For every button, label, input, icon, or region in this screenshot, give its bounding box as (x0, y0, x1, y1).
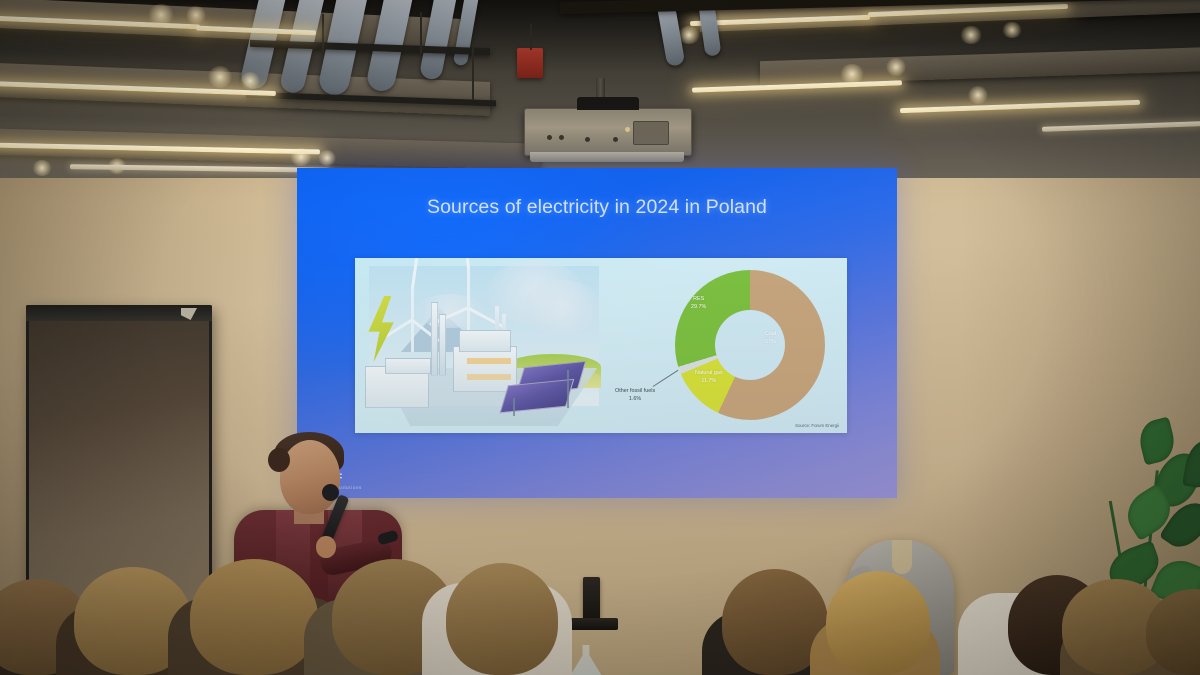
ceiling-light (1042, 121, 1200, 132)
cloud-shape (523, 280, 601, 334)
projector-underside (530, 152, 684, 162)
slice-value-other-fossil-fuels: 1.6% (615, 396, 655, 404)
smokestack (439, 314, 446, 376)
solar-panel-leg (513, 398, 515, 416)
slide-title: Sources of electricity in 2024 in Poland (297, 196, 897, 219)
audience-head (826, 571, 930, 675)
projector-lens (633, 121, 669, 145)
audience-head (446, 563, 558, 675)
ceiling-light-glow (290, 148, 312, 166)
slice-leader-line (653, 370, 679, 387)
slice-value-natural-gas: 11.7% (695, 378, 723, 386)
ceiling-light-glow (840, 64, 864, 84)
ceiling-light (70, 164, 330, 173)
ceiling-light-glow (318, 150, 336, 166)
industrial-plant (467, 374, 511, 380)
ceiling-light-glow (886, 58, 906, 76)
slice-name-res: RES (691, 296, 706, 304)
ceiling-light-glow (240, 72, 260, 90)
industrial-plant (467, 358, 511, 364)
ceiling-light-glow (960, 26, 982, 44)
projector-port (585, 137, 590, 142)
slice-label-coal: Coal 57% (765, 331, 776, 347)
ceiling-light-glow (148, 4, 174, 26)
slice-name-coal: Coal (765, 331, 776, 339)
armchair-back-notch (892, 540, 912, 574)
ceiling-light-glow (1002, 22, 1022, 38)
projector-port (547, 135, 552, 140)
presenter-head (280, 440, 340, 514)
chart-source-note: Source: Forum Energii (795, 423, 839, 428)
donut-ring (675, 270, 825, 420)
projector-bracket (577, 97, 639, 110)
projector-indicator-light (625, 127, 630, 132)
ceiling-light-glow (186, 6, 206, 24)
pipe-hanger (420, 12, 422, 54)
slice-value-coal: 57% (765, 339, 776, 347)
fire-alarm-box (517, 48, 543, 78)
slice-label-natural-gas: Natural gas 11.7% (695, 370, 723, 386)
smokestack (431, 302, 438, 376)
slice-name-natural-gas: Natural gas (695, 370, 723, 378)
ceiling-light-glow (32, 160, 52, 176)
fire-box-hanger (530, 24, 532, 50)
microphone-head (322, 484, 339, 501)
electricity-sources-donut-chart: Coal 57% RES 29.7% Natural gas 11.7% Oth… (613, 258, 847, 433)
projector-port (613, 137, 618, 142)
slice-value-res: 29.7% (691, 304, 706, 312)
slice-name-other-fossil-fuels: Other fossil fuels (615, 388, 655, 396)
slice-label-res: RES 29.7% (691, 296, 706, 312)
solar-panel-leg (567, 370, 569, 408)
wall-mounted-speaker (583, 577, 600, 621)
presentation-photo-scene: Sources of electricity in 2024 in Poland (0, 0, 1200, 675)
audience-head (190, 559, 318, 675)
pipe-hanger (322, 14, 324, 56)
slice-label-other-fossil-fuels: Other fossil fuels 1.6% (615, 388, 655, 404)
industrial-plant (459, 330, 511, 352)
presenter-hand (316, 536, 336, 558)
ceiling-light-glow (208, 66, 232, 88)
pipe-hanger (472, 42, 474, 100)
ceiling-projector (524, 108, 692, 156)
substation-building (385, 358, 431, 374)
speaker-shelf-bracket (566, 618, 618, 630)
projector-port (559, 135, 564, 140)
slide-content-card: Coal 57% RES 29.7% Natural gas 11.7% Oth… (355, 258, 847, 433)
presenter-hair-bun (268, 448, 290, 472)
ceiling-light-glow (968, 86, 988, 104)
energy-illustration (355, 258, 613, 433)
ceiling-light (900, 100, 1140, 113)
